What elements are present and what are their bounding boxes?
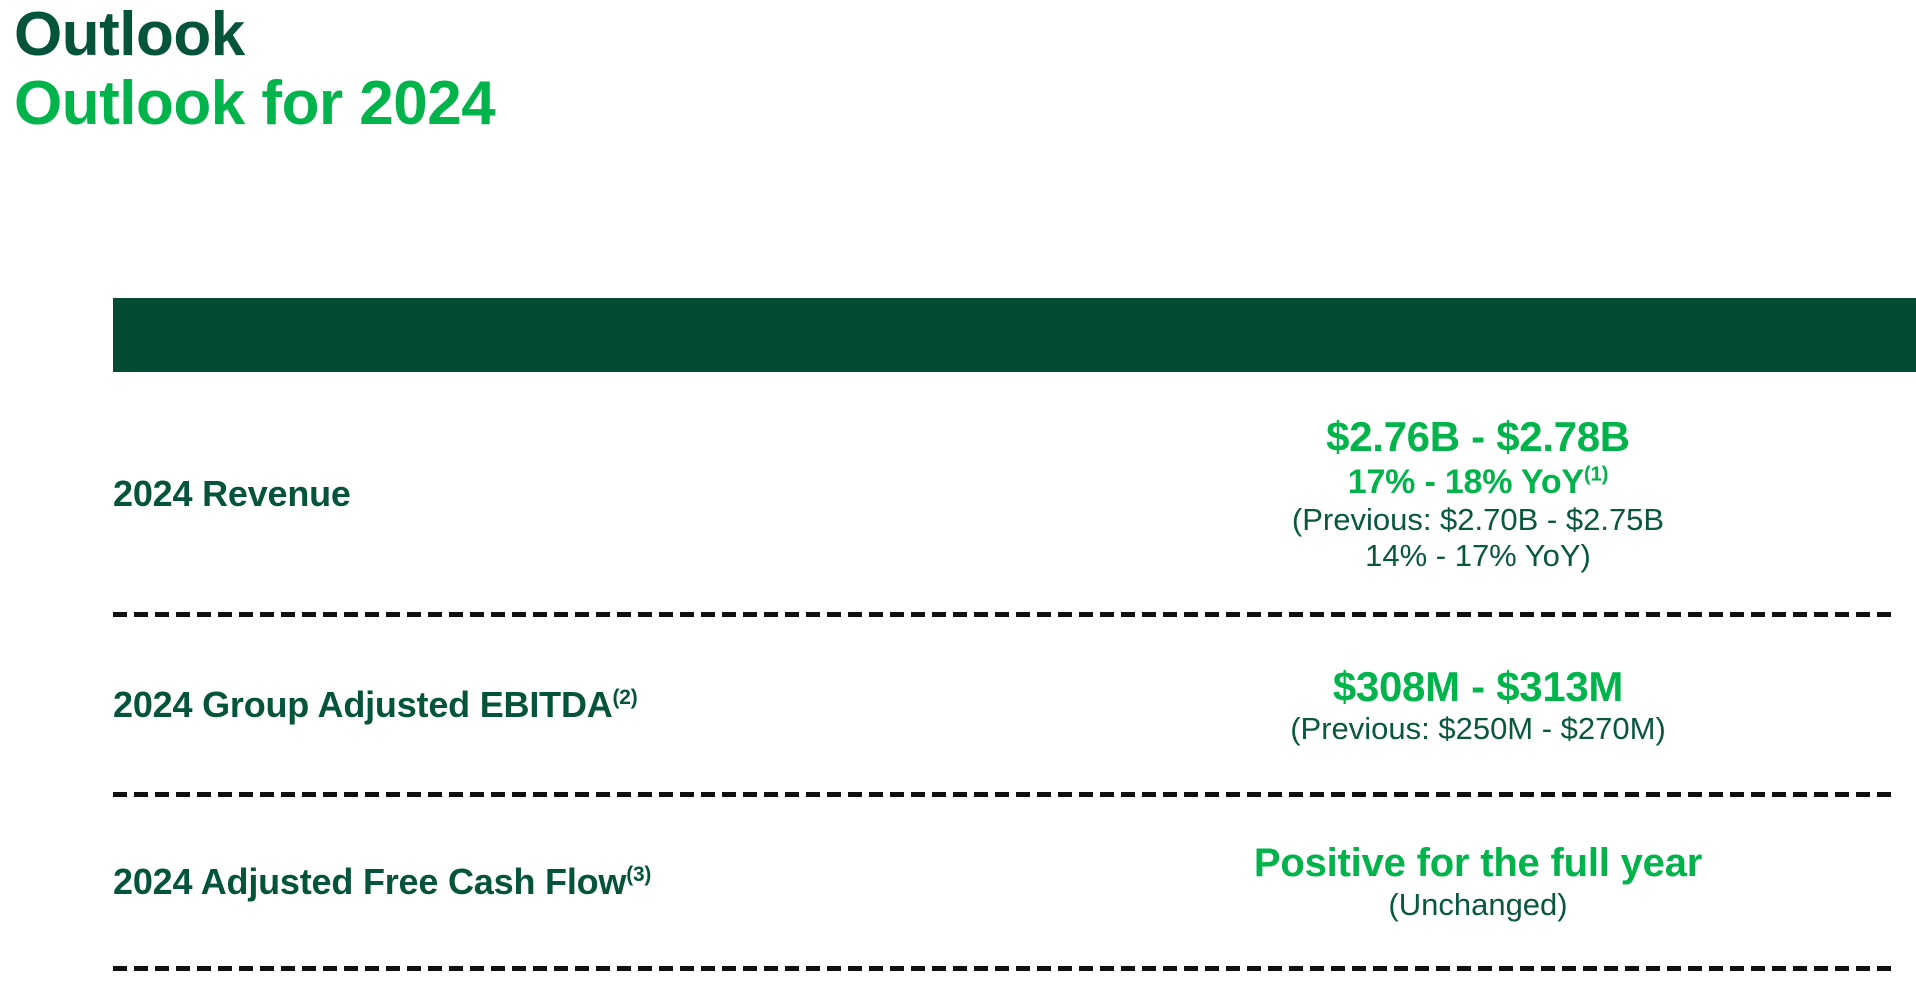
- value-note-line-1: (Unchanged): [1118, 887, 1838, 924]
- value-primary: $308M - $313M: [1118, 662, 1838, 712]
- outlook-table: 2024 Revenue $2.76B - $2.78B 17% - 18% Y…: [113, 298, 1916, 969]
- table-row: 2024 Group Adjusted EBITDA(2) $308M - $3…: [113, 615, 1916, 795]
- table-row-label-text: 2024 Revenue: [113, 473, 351, 514]
- table-row-label-footnote: (3): [626, 863, 651, 886]
- value-note-line-1: (Previous: $2.70B - $2.75B: [1118, 502, 1838, 539]
- table-row-label-footnote: (2): [613, 686, 638, 709]
- value-note-line-1: (Previous: $250M - $270M): [1118, 711, 1838, 748]
- value-secondary-footnote: (1): [1584, 463, 1608, 485]
- table-row: 2024 Adjusted Free Cash Flow(3) Positive…: [113, 795, 1916, 969]
- table-row-label: 2024 Group Adjusted EBITDA(2): [113, 684, 1118, 725]
- table-row-label-text: 2024 Group Adjusted EBITDA: [113, 684, 613, 725]
- page-title-block: Outlook Outlook for 2024: [14, 2, 1214, 140]
- table-row-value: $2.76B - $2.78B 17% - 18% YoY(1) (Previo…: [1118, 412, 1916, 575]
- row-divider: [113, 966, 1896, 971]
- row-divider: [113, 612, 1896, 617]
- value-note-line-2: 14% - 17% YoY): [1118, 538, 1838, 575]
- table-row-value: Positive for the full year (Unchanged): [1118, 840, 1916, 924]
- table-row-label-text: 2024 Adjusted Free Cash Flow: [113, 861, 626, 902]
- table-row-value: $308M - $313M (Previous: $250M - $270M): [1118, 662, 1916, 748]
- row-divider: [113, 792, 1896, 797]
- value-primary: $2.76B - $2.78B: [1118, 412, 1838, 462]
- value-primary: Positive for the full year: [1118, 840, 1838, 887]
- table-row: 2024 Revenue $2.76B - $2.78B 17% - 18% Y…: [113, 372, 1916, 615]
- page-title: Outlook for 2024: [14, 69, 1214, 140]
- page-title-eyebrow: Outlook: [14, 2, 1214, 69]
- value-secondary-text: 17% - 18% YoY: [1348, 463, 1584, 501]
- table-row-label: 2024 Adjusted Free Cash Flow(3): [113, 861, 1118, 902]
- value-secondary: 17% - 18% YoY(1): [1118, 462, 1838, 502]
- table-row-label: 2024 Revenue: [113, 473, 1118, 514]
- table-header-bar: [113, 298, 1916, 372]
